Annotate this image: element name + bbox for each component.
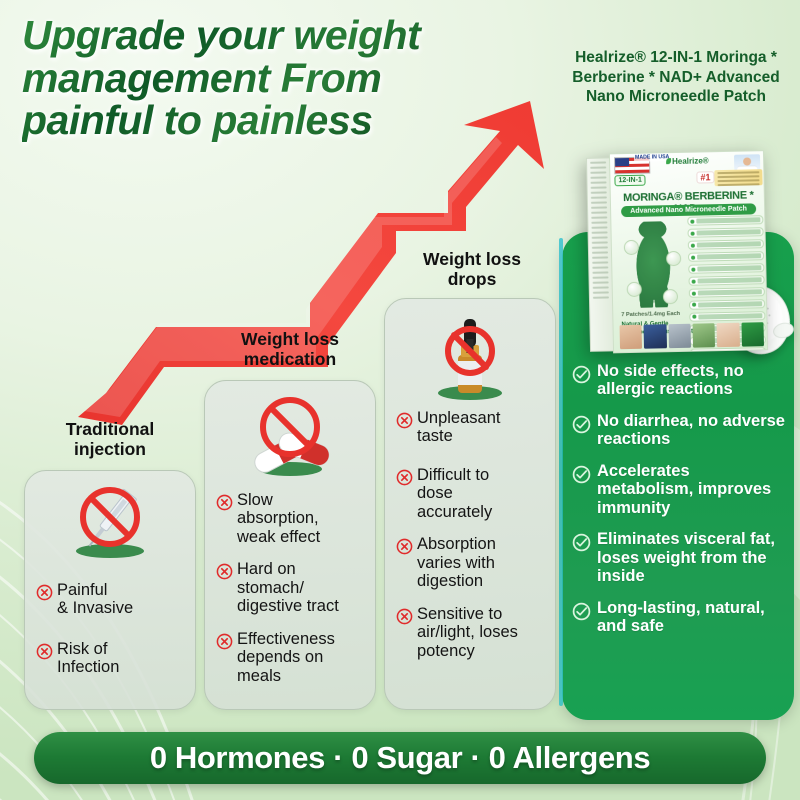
prohibited-syringe-icon (25, 483, 195, 561)
card-bullet-text: Slow absorption, weak effect (237, 491, 320, 546)
benefit-text: Accelerates metabolism, improves immunit… (597, 462, 787, 517)
card-bullet-item: Absorption varies with digestion (396, 535, 547, 590)
x-circle-icon (216, 494, 233, 511)
benefit-text: Eliminates visceral fat, loses weight fr… (597, 530, 787, 585)
benefits-list: No side effects, no allergic reactions N… (572, 362, 787, 649)
check-circle-icon (572, 533, 591, 552)
product-box: MADE IN USA Healrize® 12-IN-1 #1 MORINGA… (586, 150, 768, 354)
card-bullet-text: Hard on stomach/ digestive tract (237, 560, 339, 615)
box-patch-count: 7 Patches/1.4mg Each (621, 311, 680, 318)
comparison-card-traditional-injection: Painful & Invasive Risk of Infection (24, 470, 196, 710)
badge-12-in-1: 12-IN-1 (614, 175, 646, 187)
card-bullet-item: Painful & Invasive (36, 581, 187, 618)
check-circle-icon (572, 365, 591, 384)
benefit-item: No diarrhea, no adverse reactions (572, 412, 787, 449)
card-bullet-text: Risk of Infection (57, 640, 119, 677)
benefit-text: No diarrhea, no adverse reactions (597, 412, 787, 449)
card-bullet-text: Painful & Invasive (57, 581, 133, 618)
card-bullet-text: Effectiveness depends on meals (237, 630, 335, 685)
card-bullet-text: Sensitive to air/light, loses potency (417, 605, 518, 660)
x-circle-icon (396, 412, 413, 429)
box-photo-strip (620, 322, 764, 349)
banner-text: 0 Hormones · 0 Sugar · 0 Allergens (150, 740, 650, 776)
product-box-front-panel: MADE IN USA Healrize® 12-IN-1 #1 MORINGA… (609, 150, 768, 353)
benefit-item: Eliminates visceral fat, loses weight fr… (572, 530, 787, 585)
bottom-claims-banner: 0 Hormones · 0 Sugar · 0 Allergens (34, 732, 766, 784)
infographic-canvas: Upgrade your weight management From pain… (0, 0, 800, 800)
x-circle-icon (36, 584, 53, 601)
card-bullet-text: Difficult to dose accurately (417, 466, 492, 521)
x-circle-icon (36, 643, 53, 660)
card-bullet-text: Unpleasant taste (417, 409, 500, 446)
benefit-item: No side effects, no allergic reactions (572, 362, 787, 399)
badge-number-one: #1 (696, 171, 714, 183)
card-3-bullet-list: Unpleasant taste Difficult to dose accur… (396, 409, 547, 671)
made-in-usa-badge: MADE IN USA (634, 155, 670, 161)
benefit-item: Accelerates metabolism, improves immunit… (572, 462, 787, 517)
headline-line-2: management From (22, 57, 542, 100)
card-title-traditional-injection: Traditional injection (18, 420, 202, 459)
card-bullet-item: Difficult to dose accurately (396, 466, 547, 521)
brand-logo: Healrize® (666, 156, 709, 166)
product-title: Healrize® 12-IN-1 Moringa * Berberine * … (556, 48, 796, 107)
card-bullet-item: Risk of Infection (36, 640, 187, 677)
check-circle-icon (572, 415, 591, 434)
card-bullet-item: Slow absorption, weak effect (216, 491, 367, 546)
benefit-text: Long-lasting, natural, and safe (597, 599, 787, 636)
comparison-card-weight-loss-medication: Slow absorption, weak effect Hard on sto… (204, 380, 376, 710)
headline-line-1: Upgrade your weight (22, 14, 542, 57)
card-bullet-item: Unpleasant taste (396, 409, 547, 446)
benefit-text: No side effects, no allergic reactions (597, 362, 787, 399)
card-title-weight-loss-medication: Weight loss medication (200, 330, 380, 369)
brand-name: Healrize® (672, 156, 709, 166)
x-circle-icon (396, 608, 413, 625)
card-bullet-item: Hard on stomach/ digestive tract (216, 560, 367, 615)
x-circle-icon (216, 563, 233, 580)
prohibited-pills-icon (205, 391, 375, 483)
card-bullet-text: Absorption varies with digestion (417, 535, 496, 590)
card-title-weight-loss-drops: Weight loss drops (382, 250, 562, 289)
check-circle-icon (572, 602, 591, 621)
prohibited-dropper-icon (385, 309, 555, 405)
card-1-bullet-list: Painful & Invasive Risk of Infection (36, 581, 187, 688)
benefit-item: Long-lasting, natural, and safe (572, 599, 787, 636)
x-circle-icon (396, 538, 413, 555)
card-bullet-item: Sensitive to air/light, loses potency (396, 605, 547, 660)
card-2-bullet-list: Slow absorption, weak effect Hard on sto… (216, 491, 367, 696)
x-circle-icon (396, 469, 413, 486)
claims-strip (714, 169, 762, 186)
card-bullet-item: Effectiveness depends on meals (216, 630, 367, 685)
x-circle-icon (216, 633, 233, 650)
comparison-card-weight-loss-drops: Unpleasant taste Difficult to dose accur… (384, 298, 556, 710)
check-circle-icon (572, 465, 591, 484)
leaf-icon (666, 158, 671, 164)
